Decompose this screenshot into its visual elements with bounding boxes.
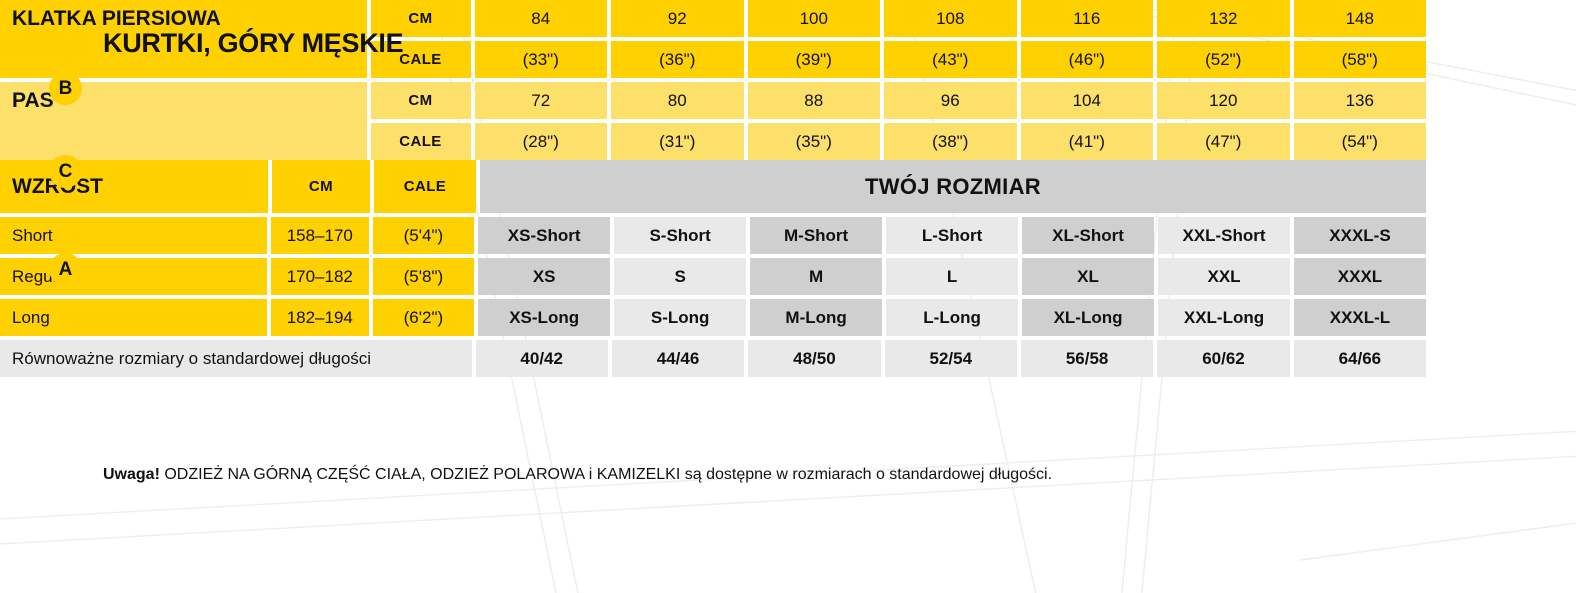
height-table-header: WZROST CM CALE TWÓJ ROZMIAR <box>0 160 1426 213</box>
size-cell: M-Short <box>750 217 882 254</box>
header-your-size: TWÓJ ROZMIAR <box>480 160 1426 213</box>
size-cell: XL-Short <box>1022 217 1154 254</box>
equivalent-value: 56/58 <box>1021 340 1153 377</box>
waist-inch-value: (35") <box>748 123 881 160</box>
header-cale: CALE <box>374 160 476 213</box>
equivalent-value: 44/46 <box>612 340 744 377</box>
size-cell: XS-Short <box>478 217 610 254</box>
chest-cm-value: 116 <box>1021 0 1154 37</box>
size-cell: XS <box>478 258 610 295</box>
height-cm: 182–194 <box>271 299 369 336</box>
equivalent-value: 40/42 <box>476 340 608 377</box>
footnote-label: Uwaga! <box>103 466 160 483</box>
equivalent-label: Równoważne rozmiary o standardowej długo… <box>0 340 472 377</box>
waist-cm-value: 96 <box>884 82 1017 119</box>
waist-cm-value: 136 <box>1294 82 1427 119</box>
chest-inch-value: (39") <box>748 41 881 78</box>
chest-cm-value: 84 <box>475 0 608 37</box>
size-cell: XL <box>1022 258 1154 295</box>
table-row-equivalent-sizes: Równoważne rozmiary o standardowej długo… <box>0 340 1426 377</box>
size-cell: L-Long <box>886 299 1018 336</box>
chest-cm-value: 100 <box>748 0 881 37</box>
equivalent-value: 60/62 <box>1157 340 1289 377</box>
chest-inch-value: (58") <box>1294 41 1427 78</box>
equivalent-value: 52/54 <box>885 340 1017 377</box>
chest-cm-row: CM 84 92 100 108 116 132 148 <box>371 0 1427 37</box>
height-cm: 158–170 <box>271 217 369 254</box>
height-inch: (5'4") <box>373 217 475 254</box>
page-title: KURTKI, GÓRY MĘSKIE <box>103 28 403 59</box>
size-cell: S <box>614 258 746 295</box>
height-size-table: WZROST CM CALE TWÓJ ROZMIAR Short 158–17… <box>0 160 1426 377</box>
size-cell: XXXL-S <box>1294 217 1426 254</box>
size-cell: XXXL <box>1294 258 1426 295</box>
size-cell: XXXL-L <box>1294 299 1426 336</box>
waist-inch-value: (38") <box>884 123 1017 160</box>
body-measurements-table: KLATKA PIERSIOWA CM 84 92 100 108 116 13… <box>0 0 1426 160</box>
waist-inch-value: (31") <box>611 123 744 160</box>
size-cell: XL-Long <box>1022 299 1154 336</box>
height-name: Short <box>0 217 267 254</box>
waist-cm-row: CM 72 80 88 96 104 120 136 <box>371 82 1427 119</box>
unit-label-cale: CALE <box>371 123 471 160</box>
table-row-waist: PAS CM 72 80 88 96 104 120 136 CALE (28"… <box>0 82 1426 160</box>
chest-inch-row: CALE (33") (36") (39") (43") (46") (52")… <box>371 41 1427 78</box>
equivalent-value: 48/50 <box>748 340 880 377</box>
waist-cm-value: 88 <box>748 82 881 119</box>
waist-inch-value: (54") <box>1294 123 1427 160</box>
chest-inch-value: (52") <box>1157 41 1290 78</box>
height-cm: 170–182 <box>271 258 369 295</box>
size-cell: XXL <box>1158 258 1290 295</box>
waist-cm-value: 80 <box>611 82 744 119</box>
unit-label-cm: CM <box>371 82 471 119</box>
chest-cm-value: 132 <box>1157 0 1290 37</box>
size-cell: S-Short <box>614 217 746 254</box>
header-wzrost: WZROST <box>0 160 268 213</box>
size-cell: L-Short <box>886 217 1018 254</box>
waist-cm-value: 120 <box>1157 82 1290 119</box>
waist-inch-value: (28") <box>475 123 608 160</box>
size-cell: M <box>750 258 882 295</box>
waist-inch-value: (41") <box>1021 123 1154 160</box>
footnote: Uwaga! ODZIEŻ NA GÓRNĄ CZĘŚĆ CIAŁA, ODZI… <box>103 466 1052 484</box>
marker-chest: B <box>49 72 82 105</box>
chest-cm-value: 108 <box>884 0 1017 37</box>
header-cm: CM <box>272 160 370 213</box>
waist-inch-row: CALE (28") (31") (35") (38") (41") (47")… <box>371 123 1427 160</box>
marker-waist: C <box>49 155 82 188</box>
table-row-long: Long 182–194 (6'2") XS-Long S-Long M-Lon… <box>0 299 1426 336</box>
height-name: Regular <box>0 258 267 295</box>
size-chart-page: KURTKI, GÓRY MĘSKIE B C A KLATKA PIERSIO… <box>0 0 1576 593</box>
chest-inch-value: (36") <box>611 41 744 78</box>
height-inch: (5'8") <box>373 258 475 295</box>
size-cell: XS-Long <box>478 299 610 336</box>
waist-cm-value: 104 <box>1021 82 1154 119</box>
footnote-text: ODZIEŻ NA GÓRNĄ CZĘŚĆ CIAŁA, ODZIEŻ POLA… <box>164 466 1052 483</box>
chest-inch-value: (33") <box>475 41 608 78</box>
chest-inch-value: (43") <box>884 41 1017 78</box>
table-row-short: Short 158–170 (5'4") XS-Short S-Short M-… <box>0 217 1426 254</box>
equivalent-value: 64/66 <box>1294 340 1426 377</box>
size-cell: S-Long <box>614 299 746 336</box>
chest-cm-value: 92 <box>611 0 744 37</box>
table-row-regular: Regular 170–182 (5'8") XS S M L XL XXL X… <box>0 258 1426 295</box>
height-inch: (6'2") <box>373 299 475 336</box>
waist-inch-value: (47") <box>1157 123 1290 160</box>
size-cell: M-Long <box>750 299 882 336</box>
chest-inch-value: (46") <box>1021 41 1154 78</box>
height-name: Long <box>0 299 267 336</box>
size-cell: XXL-Long <box>1158 299 1290 336</box>
waist-cm-value: 72 <box>475 82 608 119</box>
marker-height: A <box>49 253 82 286</box>
size-cell: XXL-Short <box>1158 217 1290 254</box>
size-cell: L <box>886 258 1018 295</box>
chest-cm-value: 148 <box>1294 0 1427 37</box>
